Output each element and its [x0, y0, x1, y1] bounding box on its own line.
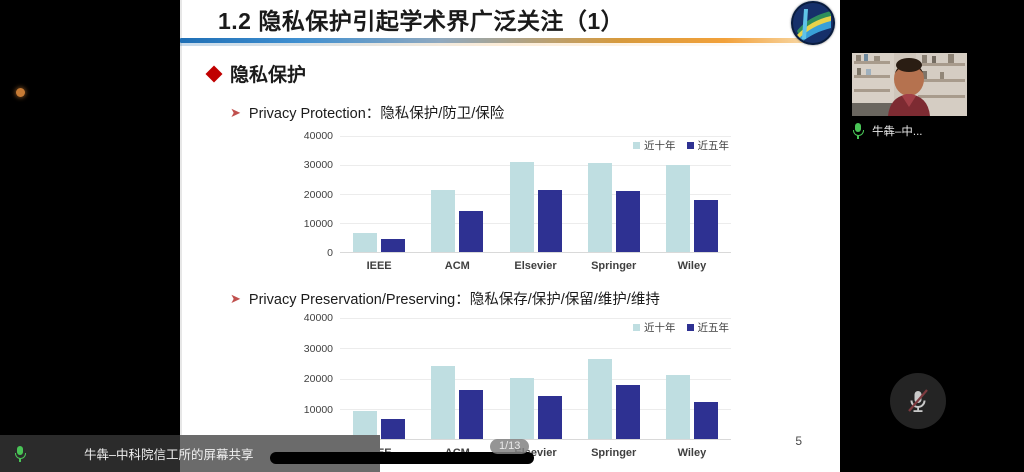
- page-title: 1.2 隐私保护引起学术界广泛关注（1）: [218, 2, 624, 36]
- bar: [431, 366, 455, 440]
- bar: [588, 163, 612, 252]
- bar: [616, 385, 640, 439]
- slide-left-edge: [180, 0, 182, 472]
- diamond-bullet-icon: [206, 65, 223, 82]
- bullet-label-privacy-protection: Privacy Protection：隐私保护/防卫/保险: [249, 102, 504, 123]
- bar: [616, 191, 640, 252]
- bar: [538, 190, 562, 252]
- section-heading-label: 隐私保护: [230, 60, 306, 87]
- bar: [694, 200, 718, 252]
- bar: [538, 396, 562, 439]
- arrow-bullet-icon: ➤: [230, 106, 241, 119]
- x-axis-tick-label: ACM: [418, 260, 496, 272]
- bar-group: [496, 318, 574, 439]
- slide-page-number: 5: [795, 434, 802, 448]
- bar-group: [496, 136, 574, 252]
- legend-label: 近五年: [698, 320, 730, 335]
- bar: [666, 165, 690, 252]
- y-axis-tick-label: 30000: [304, 343, 333, 355]
- legend-swatch: [687, 142, 694, 149]
- bar-group: [575, 136, 653, 252]
- chart-privacy-protection: 400003000020000100000 IEEEACMElsevierSpr…: [280, 130, 735, 280]
- bar: [459, 390, 483, 439]
- participant-name-label: 牛犇–中...: [872, 123, 922, 139]
- bar: [588, 359, 612, 439]
- y-axis-tick-label: 40000: [304, 312, 333, 324]
- gridline: 0: [340, 252, 731, 253]
- chart-1-legend: 近十年近五年: [633, 138, 729, 153]
- chart-2-legend: 近十年近五年: [633, 320, 729, 335]
- legend-item: 近十年: [633, 320, 676, 335]
- bar: [510, 378, 534, 439]
- bar-group: [340, 318, 418, 439]
- y-axis-tick-label: 20000: [304, 373, 333, 385]
- bar: [381, 419, 405, 439]
- bottom-overlay-strip: [270, 452, 534, 464]
- bar-group: [653, 318, 731, 439]
- legend-swatch: [633, 324, 640, 331]
- bar: [666, 375, 690, 439]
- x-axis-tick-label: IEEE: [340, 260, 418, 272]
- x-axis-tick-label: Wiley: [653, 260, 731, 272]
- bar-group: [653, 136, 731, 252]
- bar: [381, 239, 405, 252]
- legend-label: 近五年: [698, 138, 730, 153]
- x-axis-tick-label: Springer: [575, 260, 653, 272]
- x-axis-tick-label: Elsevier: [496, 260, 574, 272]
- chart-1-bars: [340, 136, 731, 252]
- bar: [353, 233, 377, 252]
- bar-group: [418, 136, 496, 252]
- legend-label: 近十年: [644, 320, 676, 335]
- legend-item: 近五年: [687, 320, 730, 335]
- legend-item: 近十年: [633, 138, 676, 153]
- chart-2-plot-area: 400003000020000100000: [340, 318, 731, 439]
- bar: [431, 190, 455, 252]
- legend-item: 近五年: [687, 138, 730, 153]
- arrow-bullet-icon: ➤: [230, 292, 241, 305]
- zoom-meeting-screen: 1.2 隐私保护引起学术界广泛关注（1） 隐私保护 ➤ Privacy Prot…: [0, 0, 1024, 472]
- legend-swatch: [633, 142, 640, 149]
- microphone-icon: [14, 446, 26, 462]
- shared-slide-content: 1.2 隐私保护引起学术界广泛关注（1） 隐私保护 ➤ Privacy Prot…: [180, 0, 840, 472]
- bar-group: [418, 318, 496, 439]
- bullet-item-privacy-preservation: ➤ Privacy Preservation/Preserving：隐私保存/保…: [230, 288, 660, 309]
- bullet-item-privacy-protection: ➤ Privacy Protection：隐私保护/防卫/保险: [230, 102, 504, 123]
- y-axis-tick-label: 10000: [304, 404, 333, 416]
- microphone-icon: [852, 123, 864, 139]
- participant-video-tile[interactable]: [852, 53, 967, 116]
- x-axis-tick-label: Wiley: [653, 447, 731, 459]
- x-axis-tick-label: Springer: [575, 447, 653, 459]
- microphone-muted-icon[interactable]: [890, 373, 946, 429]
- bar: [510, 162, 534, 252]
- chart-1-plot-area: 400003000020000100000: [340, 136, 731, 252]
- participant-rail: 牛犇–中...: [840, 0, 1024, 472]
- title-rule-shadow: [180, 43, 828, 46]
- bar: [459, 211, 483, 252]
- status-dot: [16, 88, 25, 97]
- y-axis-tick-label: 10000: [304, 218, 333, 230]
- bar: [694, 402, 718, 439]
- section-heading: 隐私保护: [208, 60, 306, 87]
- gridline: 0: [340, 439, 731, 440]
- legend-swatch: [687, 324, 694, 331]
- y-axis-tick-label: 20000: [304, 189, 333, 201]
- legend-label: 近十年: [644, 138, 676, 153]
- y-axis-tick-label: 30000: [304, 159, 333, 171]
- chart-1-x-axis: IEEEACMElsevierSpringerWiley: [340, 260, 731, 272]
- bar-group: [340, 136, 418, 252]
- bar-group: [575, 318, 653, 439]
- y-axis-tick-label: 40000: [304, 130, 333, 142]
- institute-logo-icon: [791, 1, 835, 45]
- bullet-label-privacy-preservation: Privacy Preservation/Preserving：隐私保存/保护/…: [249, 288, 660, 309]
- slide-page-indicator: 1/13: [490, 439, 529, 454]
- share-status-label: 牛犇–中科院信工所的屏幕共享: [84, 444, 253, 463]
- y-axis-tick-label: 0: [327, 247, 333, 259]
- slide-title-bar: 1.2 隐私保护引起学术界广泛关注（1）: [180, 0, 840, 48]
- chart-2-bars: [340, 318, 731, 439]
- participant-name-row: 牛犇–中...: [852, 123, 922, 139]
